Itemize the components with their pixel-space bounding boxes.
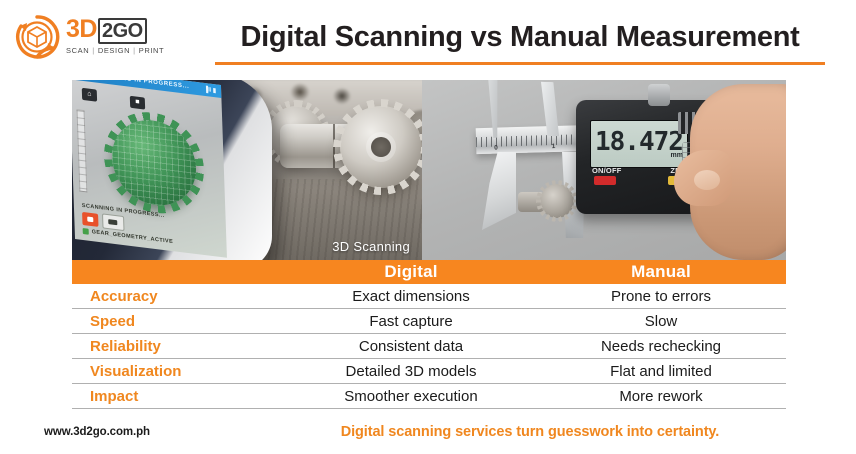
logo-secondary-text: 2GO [98, 18, 147, 44]
handheld-3d-scanner: SCANNING IN PROGRESS... ▐‖ ▮ ⌂ ■ SCANNIN… [72, 80, 272, 260]
row-label-impact: Impact [72, 388, 286, 405]
logo-tagline-design: DESIGN [98, 46, 130, 55]
cube-recycle-logo-icon [14, 14, 60, 60]
cell-manual-reliability: Needs rechecking [536, 338, 786, 355]
cell-digital-speed: Fast capture [286, 313, 536, 330]
cell-digital-accuracy: Exact dimensions [286, 288, 536, 305]
table-row: Impact Smoother execution More rework [72, 384, 786, 409]
logo-wordmark: 3D2GO [66, 16, 190, 44]
cell-digital-visualization: Detailed 3D models [286, 363, 536, 380]
infographic-page: 3D2GO SCAN|DESIGN|PRINT Digital Scanning… [0, 0, 856, 454]
logo-tagline-scan: SCAN [66, 46, 89, 55]
home-icon[interactable]: ⌂ [82, 88, 97, 102]
status-dot-icon [83, 228, 89, 235]
cell-manual-visualization: Flat and limited [536, 363, 786, 380]
table-header-manual: Manual [536, 260, 786, 284]
scan-quality-slider[interactable] [77, 109, 88, 192]
scanner-status-icons: ▐‖ ▮ [204, 86, 216, 95]
workpiece-gear [540, 184, 574, 218]
cell-digital-impact: Smoother execution [286, 388, 536, 405]
image-panels: SCANNING IN PROGRESS... ▐‖ ▮ ⌂ ■ SCANNIN… [72, 80, 786, 260]
table-row: Accuracy Exact dimensions Prone to error… [72, 284, 786, 309]
scanner-screen: SCANNING IN PROGRESS... ▐‖ ▮ ⌂ ■ SCANNIN… [72, 80, 227, 258]
cell-manual-accuracy: Prone to errors [536, 288, 786, 305]
website-url[interactable]: www.3d2go.com.ph [44, 426, 150, 438]
table-row: Speed Fast capture Slow [72, 309, 786, 334]
logo-wordmark-group: 3D2GO SCAN|DESIGN|PRINT [66, 16, 190, 55]
human-hand [690, 84, 786, 260]
cell-digital-reliability: Consistent data [286, 338, 536, 355]
title-underline-rule [215, 62, 825, 65]
table-row: Reliability Consistent data Needs rechec… [72, 334, 786, 359]
logo-tagline-sep-2: | [133, 46, 136, 55]
caliper-onoff-button[interactable] [594, 176, 616, 185]
footer-tagline: Digital scanning services turn guesswork… [250, 424, 810, 440]
cell-manual-speed: Slow [536, 313, 786, 330]
table-row: Visualization Detailed 3D models Flat an… [72, 359, 786, 384]
panel-digital-photo: SCANNING IN PROGRESS... ▐‖ ▮ ⌂ ■ SCANNIN… [72, 80, 422, 260]
row-label-speed: Speed [72, 313, 286, 330]
panel-caption-digital: 3D Scanning [332, 239, 410, 254]
scanner-status-text: SCANNING IN PROGRESS... [95, 80, 189, 90]
capture-button[interactable] [102, 213, 125, 231]
logo-tagline: SCAN|DESIGN|PRINT [66, 46, 190, 55]
cell-manual-impact: More rework [536, 388, 786, 405]
logo-tagline-print: PRINT [139, 46, 165, 55]
logo-primary-text: 3D [66, 15, 97, 43]
comparison-table: Digital Manual Accuracy Exact dimensions… [72, 260, 786, 409]
row-label-visualization: Visualization [72, 363, 286, 380]
row-label-reliability: Reliability [72, 338, 286, 355]
row-label-accuracy: Accuracy [72, 288, 286, 305]
caliper-lcd-display: 18.472 mm [590, 120, 688, 168]
table-header-row: Digital Manual [72, 260, 786, 284]
camera-icon[interactable]: ■ [130, 96, 145, 110]
primary-gear [340, 106, 422, 188]
footer: www.3d2go.com.ph Digital scanning servic… [0, 420, 856, 454]
record-button[interactable] [82, 212, 98, 227]
logo-tagline-sep-1: | [92, 46, 95, 55]
brand-logo[interactable]: 3D2GO SCAN|DESIGN|PRINT [14, 12, 190, 64]
caliper-thumbwheel[interactable] [648, 84, 670, 106]
caliper-onoff-label: ON/OFF [592, 166, 622, 175]
hand-thumbnail [694, 170, 720, 190]
measured-gear-workpiece [518, 184, 568, 222]
table-header-digital: Digital [286, 260, 536, 284]
header: 3D2GO SCAN|DESIGN|PRINT Digital Scanning… [0, 0, 856, 76]
panel-manual-photo: 0 10 20 130 18.472 mm ON/ [422, 80, 786, 260]
page-title: Digital Scanning vs Manual Measurement [200, 21, 840, 54]
scanned-gear-mesh [111, 115, 198, 210]
